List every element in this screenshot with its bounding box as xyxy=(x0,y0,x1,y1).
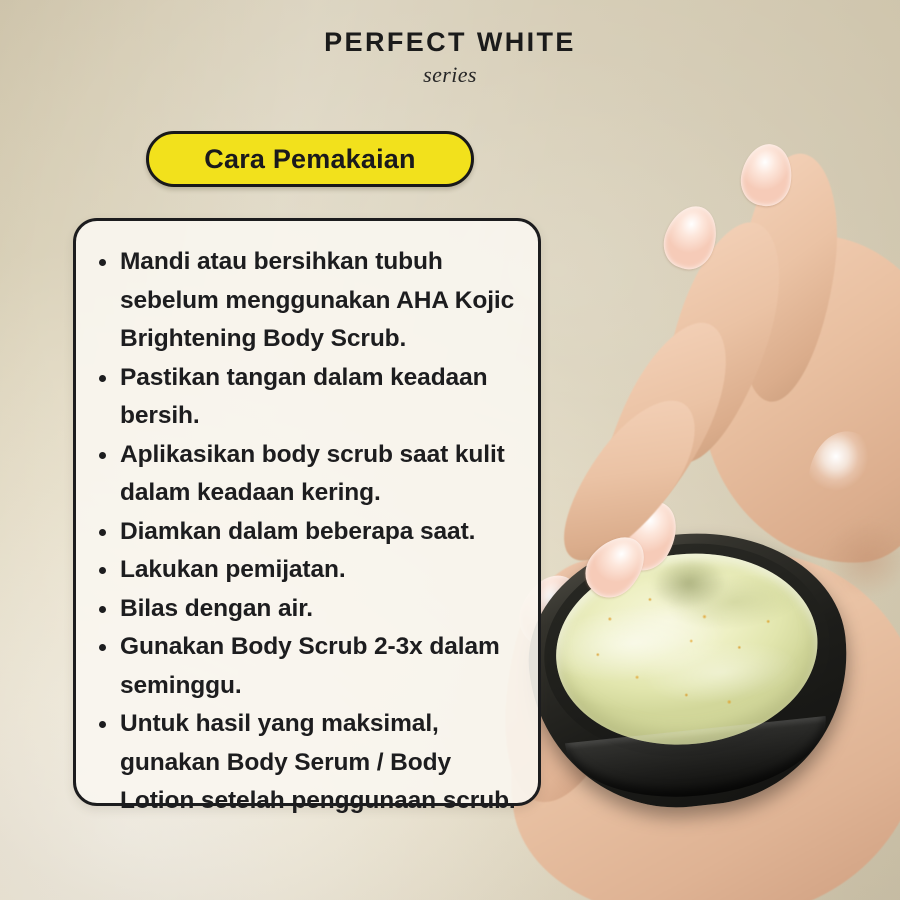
instruction-step: Mandi atau bersihkan tubuh sebelum mengg… xyxy=(94,243,518,359)
instruction-step: Gunakan Body Scrub 2-3x dalam seminggu. xyxy=(94,628,518,705)
upper-hand xyxy=(562,109,900,651)
brand-title: PERFECT WHITE xyxy=(0,28,900,58)
section-badge-label: Cara Pemakaian xyxy=(204,144,415,175)
poster-canvas: PERFECT WHITE series Cara Pemakaian Mand… xyxy=(0,0,900,900)
section-badge: Cara Pemakaian xyxy=(146,131,474,187)
poster-header: PERFECT WHITE series xyxy=(0,28,900,88)
instruction-step: Diamkan dalam beberapa saat. xyxy=(94,513,518,552)
brand-subtitle: series xyxy=(0,62,900,88)
instruction-list: Mandi atau bersihkan tubuh sebelum mengg… xyxy=(94,243,518,821)
instruction-step: Untuk hasil yang maksimal, gunakan Body … xyxy=(94,705,518,821)
instruction-step: Aplikasikan body scrub saat kulit dalam … xyxy=(94,436,518,513)
instruction-step: Pastikan tangan dalam keadaan bersih. xyxy=(94,359,518,436)
instruction-step: Bilas dengan air. xyxy=(94,590,518,629)
instructions-card: Mandi atau bersihkan tubuh sebelum mengg… xyxy=(73,218,541,806)
instruction-step: Lakukan pemijatan. xyxy=(94,551,518,590)
